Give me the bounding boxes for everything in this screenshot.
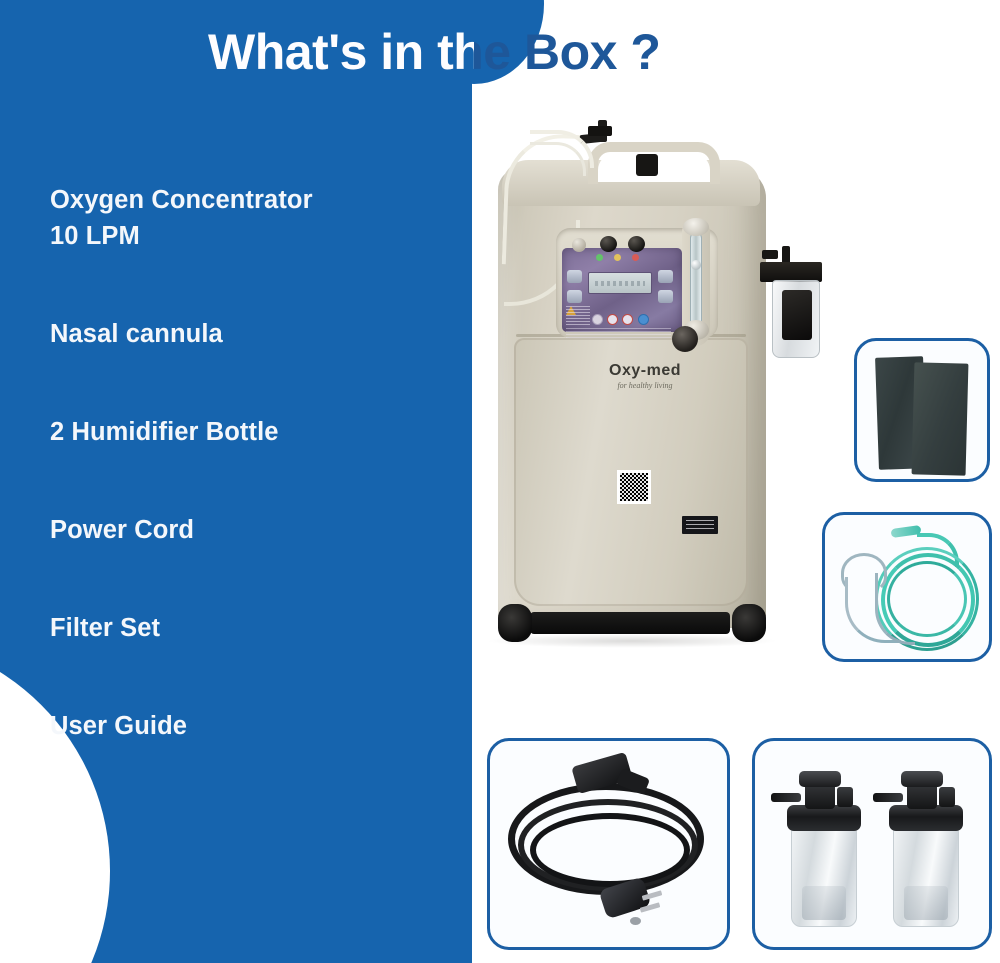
humidifier-bottle-left	[783, 765, 865, 929]
led-red-alarm	[632, 254, 639, 261]
nasal-cannula-image	[825, 515, 989, 659]
page-title: What's in the Box ? What's in the Box ?	[208, 21, 768, 83]
control-button-up[interactable]	[567, 270, 582, 283]
filter-pad-front	[912, 362, 969, 475]
top-knob-left[interactable]	[600, 236, 617, 252]
top-knob-right[interactable]	[628, 236, 645, 252]
flowmeter-top-fitting	[683, 218, 709, 236]
bottle-body-left	[791, 827, 857, 927]
side-bottle-core	[782, 290, 812, 340]
tube-fitting-handle-clip-icon	[636, 154, 658, 176]
accessory-box-humidifier-bottles	[752, 738, 992, 950]
humidifier-bottle-right	[885, 765, 967, 929]
brand-logo: Oxy-med for healthy living	[580, 362, 710, 390]
bottle-top-fitting-left	[799, 771, 841, 787]
qr-code-sticker	[617, 470, 651, 504]
led-yellow-caution	[614, 254, 621, 261]
accessory-box-power-cord	[487, 738, 730, 950]
read-manual-icon	[638, 314, 649, 325]
list-item-nasal-cannula: Nasal cannula	[50, 316, 430, 352]
bottle-outlet-nozzle-left	[837, 787, 853, 807]
plug-prong-ground	[630, 917, 641, 925]
side-humidifier-assembly	[758, 246, 832, 376]
bottle-body-right	[893, 827, 959, 927]
control-button-down[interactable]	[567, 290, 582, 303]
caster-wheel-right	[732, 604, 766, 642]
tube-fitting-elbow-icon	[588, 126, 612, 136]
box-contents-list: Oxygen Concentrator 10 LPM Nasal cannula…	[50, 182, 430, 744]
status-led-group	[596, 254, 646, 268]
no-open-flame-icon	[607, 314, 618, 325]
bottle-inlet-nozzle-left	[771, 793, 801, 802]
whats-in-the-box-infographic: What's in the Box ? What's in the Box ? …	[0, 0, 1000, 963]
oxygen-concentrator-image: Oxy-med for healthy living	[476, 120, 876, 680]
brand-logo-name: Oxy-med	[580, 362, 710, 380]
list-item-humidifier-bottle: 2 Humidifier Bottle	[50, 414, 430, 450]
power-cord-image	[490, 741, 727, 947]
side-fitting-elbow-icon	[762, 250, 778, 259]
filter-set-image	[857, 341, 987, 479]
brand-logo-tagline: for healthy living	[580, 381, 710, 390]
product-nameplate-label	[682, 516, 718, 534]
oxygen-outlet-port[interactable]	[672, 326, 698, 352]
side-mount-bracket	[760, 262, 822, 282]
top-port-fitting	[572, 238, 586, 252]
flowmeter-tube	[690, 232, 702, 328]
control-button-alarm[interactable]	[658, 270, 673, 283]
control-button-mode[interactable]	[658, 290, 673, 303]
bottle-inlet-nozzle-right	[873, 793, 903, 802]
warning-text-block-secondary	[566, 328, 671, 340]
list-item-oxygen-concentrator: Oxygen Concentrator 10 LPM	[50, 182, 430, 254]
accessory-box-filter-set	[854, 338, 990, 482]
flowmeter-float-ball	[691, 260, 701, 270]
control-panel-lcd-display	[588, 272, 652, 294]
list-item-user-guide: User Guide	[50, 708, 430, 744]
list-item-filter-set: Filter Set	[50, 610, 430, 646]
led-green-normal	[596, 254, 603, 261]
device-base-bar	[530, 612, 730, 634]
humidifier-bottles-image	[755, 741, 989, 947]
bottle-outlet-nozzle-right	[939, 787, 955, 807]
cord-loop-inner	[530, 813, 690, 887]
no-smoking-icon	[592, 314, 603, 325]
warning-text-block	[566, 306, 590, 326]
caster-wheel-left	[498, 604, 532, 642]
no-oil-grease-icon	[622, 314, 633, 325]
accessory-box-nasal-cannula	[822, 512, 992, 662]
list-item-power-cord: Power Cord	[50, 512, 430, 548]
safety-icon-row	[592, 314, 668, 326]
bottle-top-fitting-right	[901, 771, 943, 787]
